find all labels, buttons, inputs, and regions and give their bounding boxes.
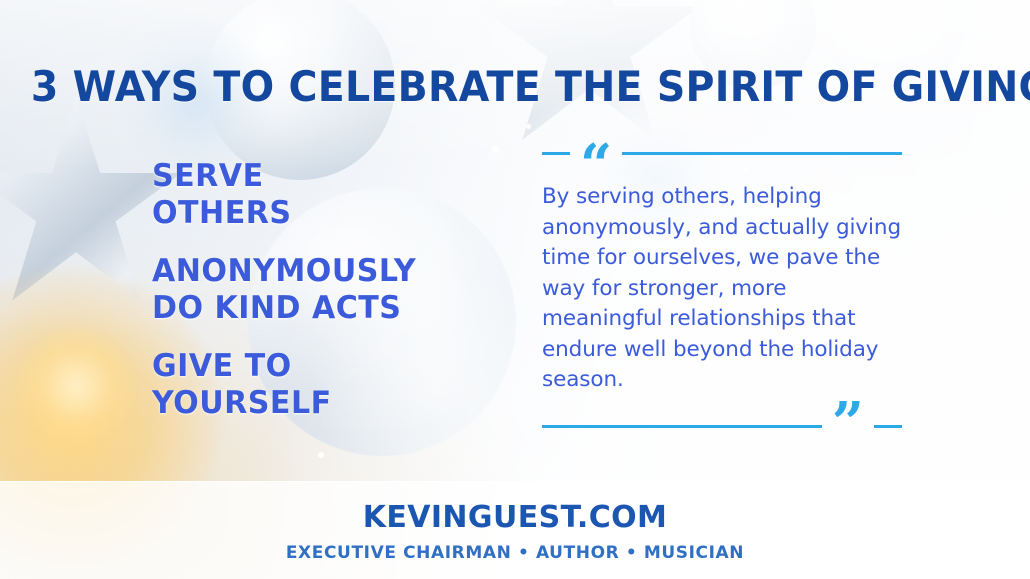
- rule-segment-left: [542, 152, 570, 155]
- promo-graphic: 3 WAYS TO CELEBRATE THE SPIRIT OF GIVING…: [0, 0, 1030, 579]
- point-2-line-1: ANONYMOUSLY: [152, 253, 472, 290]
- point-2-line-2: DO KIND ACTS: [152, 290, 472, 327]
- point-3-line-1: GIVE TO: [152, 348, 472, 385]
- quote-bottom-rule: ”: [542, 410, 902, 444]
- list-item: SERVE OTHERS: [152, 158, 472, 231]
- key-points-list: SERVE OTHERS ANONYMOUSLY DO KIND ACTS GI…: [152, 158, 482, 443]
- rule-segment-left: [542, 425, 822, 428]
- point-1-line-1: SERVE: [152, 158, 472, 195]
- quote-text: By serving others, helping anonymously, …: [542, 182, 902, 396]
- quote-block: “ By serving others, helping anonymously…: [542, 136, 902, 444]
- footer-subtitle: EXECUTIVE CHAIRMAN • AUTHOR • MUSICIAN: [0, 543, 1030, 563]
- headline: 3 WAYS TO CELEBRATE THE SPIRIT OF GIVING: [31, 62, 999, 111]
- rule-segment-right: [874, 425, 902, 428]
- point-1-line-2: OTHERS: [152, 195, 472, 232]
- quote-top-rule: “: [542, 136, 902, 170]
- footer-website: KEVINGUEST.COM: [0, 500, 1030, 535]
- list-item: ANONYMOUSLY DO KIND ACTS: [152, 253, 472, 326]
- rule-segment-right: [622, 152, 902, 155]
- list-item: GIVE TO YOURSELF: [152, 348, 472, 421]
- point-3-line-2: YOURSELF: [152, 385, 472, 422]
